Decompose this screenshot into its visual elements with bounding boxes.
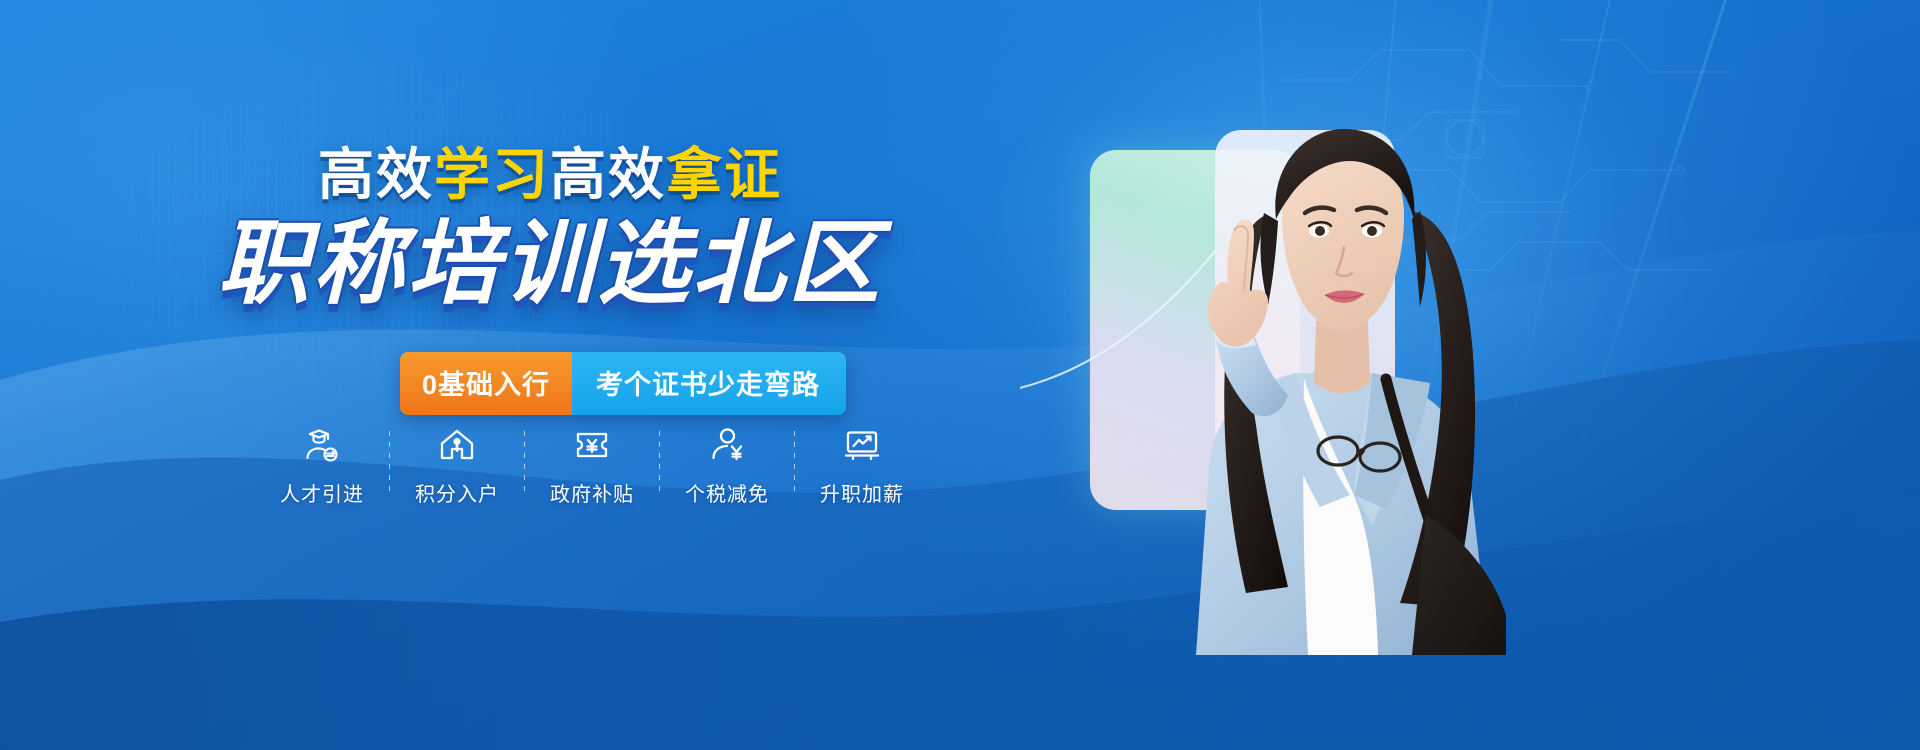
headline-line-2: 职称培训选北区 (217, 218, 882, 310)
feature-label: 政府补贴 (550, 478, 634, 507)
person-yuan-icon (707, 425, 747, 465)
graduate-person-icon (302, 425, 342, 465)
feature-label: 升职加薪 (820, 478, 904, 507)
badge-left-label: 0基础入行 (400, 352, 572, 415)
feature-label: 积分入户 (415, 478, 499, 507)
badge-right-label: 考个证书少走弯路 (572, 352, 846, 415)
tagline-badge[interactable]: 0基础入行 考个证书少走弯路 (400, 352, 846, 415)
headline-line1-seg4-highlight: 拿证 (666, 143, 782, 208)
headline-line1-seg2-highlight: 学习 (434, 143, 550, 208)
feature-label: 人才引进 (280, 478, 364, 507)
feature-item-tax-reduction[interactable]: 个税减免 (660, 425, 794, 507)
coupon-yuan-icon (572, 425, 612, 465)
headline-block: 高效学习高效拿证 职称培训选北区 (0, 148, 1100, 310)
pointing-woman-photo (1020, 95, 1580, 655)
headline-line1-seg1: 高效 (318, 143, 434, 208)
home-location-icon (437, 425, 477, 465)
headline-line1-seg3: 高效 (550, 143, 666, 208)
feature-item-promotion-raise[interactable]: 升职加薪 (795, 425, 929, 507)
promo-banner: 高效学习高效拿证 职称培训选北区 0基础入行 考个证书少走弯路 人才引进 (0, 0, 1920, 750)
feature-item-government-subsidy[interactable]: 政府补贴 (525, 425, 659, 507)
feature-list: 人才引进 积分入户 政府补贴 (255, 425, 929, 507)
headline-line2-text: 职称培训选北区 (217, 210, 882, 317)
headline-line-1: 高效学习高效拿证 (0, 148, 1100, 204)
feature-item-talent-intro[interactable]: 人才引进 (255, 425, 389, 507)
feature-label: 个税减免 (685, 478, 769, 507)
chart-growth-icon (842, 425, 882, 465)
feature-item-points-residence[interactable]: 积分入户 (390, 425, 524, 507)
